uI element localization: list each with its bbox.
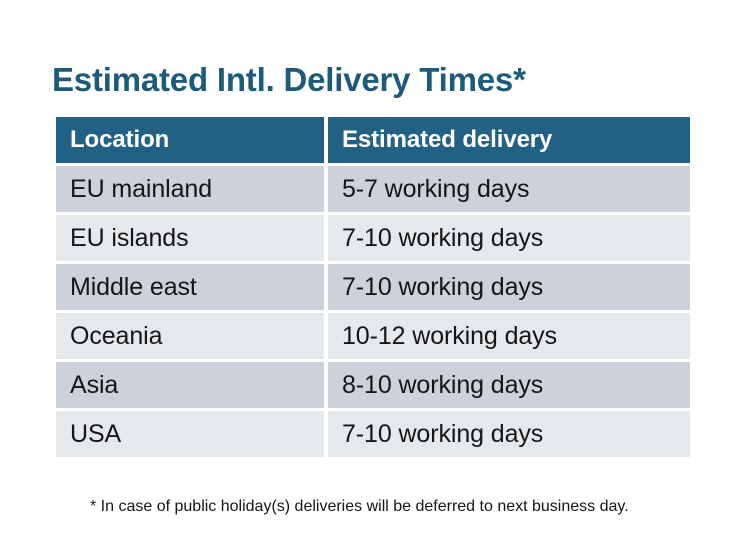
table-row: Middle east 7-10 working days xyxy=(56,264,690,310)
column-header-estimated-delivery: Estimated delivery xyxy=(328,117,690,163)
table-row: Asia 8-10 working days xyxy=(56,362,690,408)
cell-location: Oceania xyxy=(56,313,324,359)
page-title: Estimated Intl. Delivery Times* xyxy=(52,58,526,102)
column-header-location: Location xyxy=(56,117,324,163)
cell-estimated-delivery: 7-10 working days xyxy=(328,215,690,261)
table-row: Oceania 10-12 working days xyxy=(56,313,690,359)
cell-estimated-delivery: 8-10 working days xyxy=(328,362,690,408)
table-header: Location Estimated delivery xyxy=(56,117,690,163)
delivery-times-table: Location Estimated delivery EU mainland … xyxy=(52,114,694,460)
cell-location: EU mainland xyxy=(56,166,324,212)
table-row: USA 7-10 working days xyxy=(56,411,690,457)
cell-estimated-delivery: 7-10 working days xyxy=(328,411,690,457)
table-body: EU mainland 5-7 working days EU islands … xyxy=(56,166,690,457)
cell-location: Asia xyxy=(56,362,324,408)
cell-estimated-delivery: 5-7 working days xyxy=(328,166,690,212)
table-row: EU islands 7-10 working days xyxy=(56,215,690,261)
table-row: EU mainland 5-7 working days xyxy=(56,166,690,212)
table-header-row: Location Estimated delivery xyxy=(56,117,690,163)
cell-location: USA xyxy=(56,411,324,457)
cell-estimated-delivery: 10-12 working days xyxy=(328,313,690,359)
cell-location: Middle east xyxy=(56,264,324,310)
cell-location: EU islands xyxy=(56,215,324,261)
delivery-times-document: Estimated Intl. Delivery Times* Location… xyxy=(0,0,745,536)
table-footnote: * In case of public holiday(s) deliverie… xyxy=(90,496,629,518)
cell-estimated-delivery: 7-10 working days xyxy=(328,264,690,310)
